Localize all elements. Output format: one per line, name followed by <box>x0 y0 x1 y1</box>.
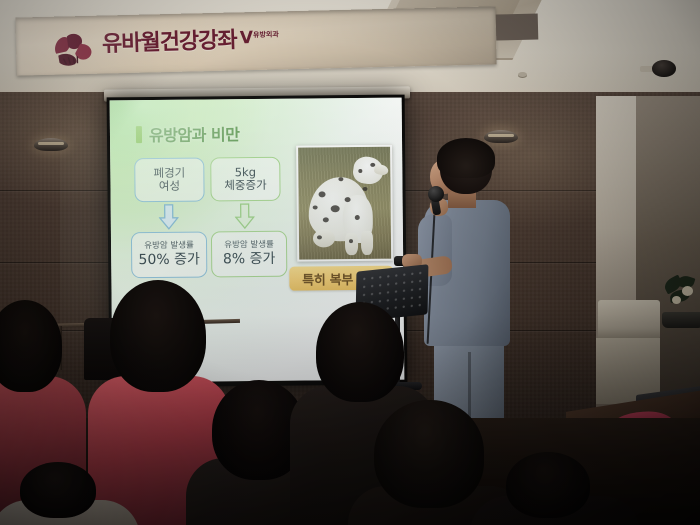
dog-spot <box>358 169 362 173</box>
dog-spot <box>370 163 375 167</box>
dog-spot <box>317 235 322 239</box>
slide-box-result-left: 유방암 발생률 50% 증가 <box>131 231 207 278</box>
ceiling-dome-speaker-icon <box>652 60 676 77</box>
down-arrow-icon <box>235 203 255 229</box>
audience-head <box>20 462 96 518</box>
audience-head <box>316 302 404 402</box>
presenter-hair <box>437 138 495 178</box>
plant-bloom <box>672 296 681 304</box>
audience-head <box>506 452 590 518</box>
dog-spot <box>338 177 343 181</box>
microphone-icon <box>428 186 444 202</box>
slide-box-cause-right: 5kg 체중증가 <box>210 157 280 202</box>
dog-leg <box>345 233 358 255</box>
dog-spot <box>345 197 351 202</box>
result-label: 유방암 발생률 <box>224 241 274 251</box>
title-bullet-icon <box>136 126 142 143</box>
audience-head <box>374 400 484 508</box>
dog-leg <box>361 231 373 255</box>
wall-sconce-light-icon <box>34 138 68 151</box>
box-line-2: 체중증가 <box>224 179 266 193</box>
box-line-2: 여성 <box>159 180 180 193</box>
slide-box-result-right: 유방암 발생률 8% 증가 <box>211 231 287 278</box>
slide-title: 유방암과 비만 <box>149 121 240 146</box>
result-value: 8% 증가 <box>223 251 276 268</box>
audience-head <box>0 300 62 392</box>
audience-member <box>480 452 620 525</box>
dog-spot <box>331 205 340 212</box>
audience-member <box>0 470 120 525</box>
dog-spot <box>319 191 326 197</box>
dog-spot <box>349 239 353 243</box>
sprinkler-icon <box>518 72 527 77</box>
dog-haunch <box>313 229 335 247</box>
av-equipment-case <box>598 300 660 340</box>
slide-box-cause-left: 폐경기 여성 <box>134 158 204 203</box>
banner-right-shadow <box>496 13 539 40</box>
result-value: 50% 증가 <box>138 251 199 268</box>
dog-spot <box>323 217 329 222</box>
plant-pot <box>662 312 700 328</box>
dalmatian-photo <box>296 145 393 262</box>
dog-spot <box>313 205 318 209</box>
slide-title-row: 유방암과 비만 <box>136 121 240 146</box>
plant-bloom <box>682 286 693 296</box>
dog-spot <box>355 215 360 220</box>
result-label: 유방암 발생률 <box>144 242 194 252</box>
audience-head <box>110 280 206 392</box>
lecture-hall-photo: 유바월건강강좌 V유방외과 유방암과 비만 폐경기 여성 <box>0 0 700 525</box>
down-arrow-icon <box>159 204 179 230</box>
dog-spot <box>362 187 367 191</box>
